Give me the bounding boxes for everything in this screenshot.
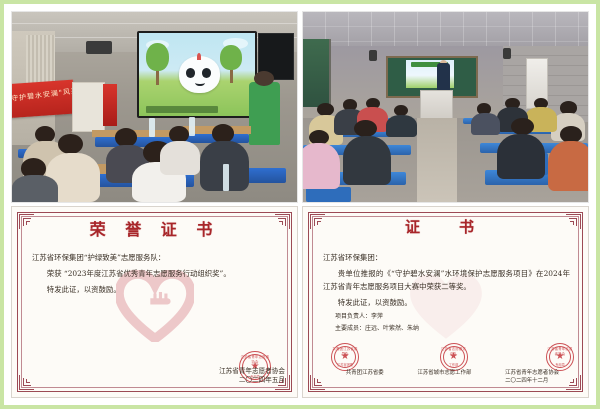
certificate-award-certificate: 证 书 江苏省环保集团： 贵单位推报的《“守护碧水安澜”水环境保护志愿服务项目》… xyxy=(302,206,589,398)
certificate-closing: 特发此证，以资鼓励。 xyxy=(32,283,279,296)
red-banner: "守护碧水安澜"风采活动 xyxy=(11,80,76,119)
certificate-award-text: 荣获 “2023年度江苏省优秀青年志愿服务行动组织奖”。 xyxy=(32,267,279,280)
certificate-signature: 江苏省青年志愿者协会 二〇二四年五月 xyxy=(219,367,285,385)
project-members-label: 主要成员： xyxy=(335,325,365,332)
issuer-3-block: 江苏省青年志愿者协会 二〇二四年十二月 xyxy=(505,369,559,385)
official-seal-2: 江苏省志愿服务总队 ★ 工作部 xyxy=(440,343,468,371)
issuer-1: 共青团江苏省委 xyxy=(346,369,384,377)
seal-bottom-text: 江苏省团委 xyxy=(332,362,358,367)
projection-screen-frame xyxy=(137,31,257,118)
official-seal-3: 江苏省青年志愿者协会 ★ 专用章 xyxy=(546,343,574,371)
project-leader-label: 项目负责人： xyxy=(335,313,371,320)
seals-row: 共青团江苏省委员会 ★ 江苏省团委 江苏省志愿服务总队 ★ 工作部 江苏省青年志… xyxy=(329,343,576,371)
projection-screen xyxy=(139,33,255,116)
issuer-2: 江苏省城市志愿工作部 xyxy=(417,369,471,377)
certificate-recipient: 江苏省环保集团“护绿致美”志愿服务队： xyxy=(32,251,279,264)
cabinet xyxy=(72,82,105,132)
seal-star-icon: ★ xyxy=(556,352,565,362)
project-members-line: 主要成员：庄远、叶紫然、朱纳 xyxy=(323,324,570,333)
mascot-icon xyxy=(179,56,221,93)
window xyxy=(303,39,331,107)
official-seal-1: 共青团江苏省委员会 ★ 江苏省团委 xyxy=(331,343,359,371)
certificate-honor-certificate: 荣 誉 证 书 江苏省环保集团“护绿致美”志愿服务队： 荣获 “2023年度江苏… xyxy=(11,206,298,398)
certificate-issuer: 江苏省青年志愿者协会 xyxy=(219,367,285,376)
project-members-names: 庄远、叶紫然、朱纳 xyxy=(365,325,419,332)
seal-star-icon: ★ xyxy=(341,352,350,362)
project-leader-line: 项目负责人：李萍 xyxy=(323,312,570,321)
corner-ornament-bottom-left xyxy=(19,373,36,390)
issuer-3: 江苏省青年志愿者协会 xyxy=(505,370,559,376)
photo-lecture-hall-presentation xyxy=(302,11,589,203)
projector-icon xyxy=(86,41,112,54)
seal-bottom-text: 专用章 xyxy=(547,362,573,367)
certificate-title: 荣 誉 证 书 xyxy=(12,216,297,240)
certificate-cell-honor-certificate: 荣 誉 证 书 江苏省环保集团“护绿致美”志愿服务队： 荣获 “2023年度江苏… xyxy=(11,206,298,398)
certificate-cell-award-certificate: 证 书 江苏省环保集团： 贵单位推报的《“守护碧水安澜”水环境保护志愿服务项目》… xyxy=(302,206,589,398)
certificate-closing: 特发此证，以资鼓励。 xyxy=(323,296,570,309)
photo-cell-classroom-cartoon-projection: "守护碧水安澜"风采活动 xyxy=(11,11,298,203)
issuers-line: 共青团江苏省委 江苏省城市志愿工作部 江苏省青年志愿者协会 二〇二四年十二月 xyxy=(329,369,576,385)
certificate-body: 江苏省环保集团： 贵单位推报的《“守护碧水安澜”水环境保护志愿服务项目》在202… xyxy=(323,251,570,336)
seal-bottom-text: 工作部 xyxy=(441,362,467,367)
collage-grid: "守护碧水安澜"风采活动 xyxy=(8,8,592,401)
certificate-title: 证 书 xyxy=(303,216,588,237)
collage-page: "守护碧水安澜"风采活动 xyxy=(0,0,600,409)
corner-ornament-bottom-left xyxy=(310,373,327,390)
certificate-award-text: 贵单位推报的《“守护碧水安澜”水环境保护志愿服务项目》在2024年江苏省青年志愿… xyxy=(323,267,570,293)
certificate-body: 江苏省环保集团“护绿致美”志愿服务队： 荣获 “2023年度江苏省优秀青年志愿服… xyxy=(32,251,279,299)
chinese-flag-icon xyxy=(103,84,117,126)
center-aisle xyxy=(417,118,457,202)
project-leader-name: 李萍 xyxy=(371,313,383,320)
photo-classroom-cartoon-projection: "守护碧水安澜"风采活动 xyxy=(11,11,298,203)
certificate-date: 二〇二四年十二月 xyxy=(505,378,548,384)
certificate-recipient: 江苏省环保集团： xyxy=(323,251,570,264)
volunteer-presenter xyxy=(249,82,280,145)
photo-cell-lecture-hall-presentation xyxy=(302,11,589,203)
subtitle-bar xyxy=(146,106,218,114)
certificate-date: 二〇二四年五月 xyxy=(219,376,285,385)
seal-star-icon: ★ xyxy=(449,352,458,362)
